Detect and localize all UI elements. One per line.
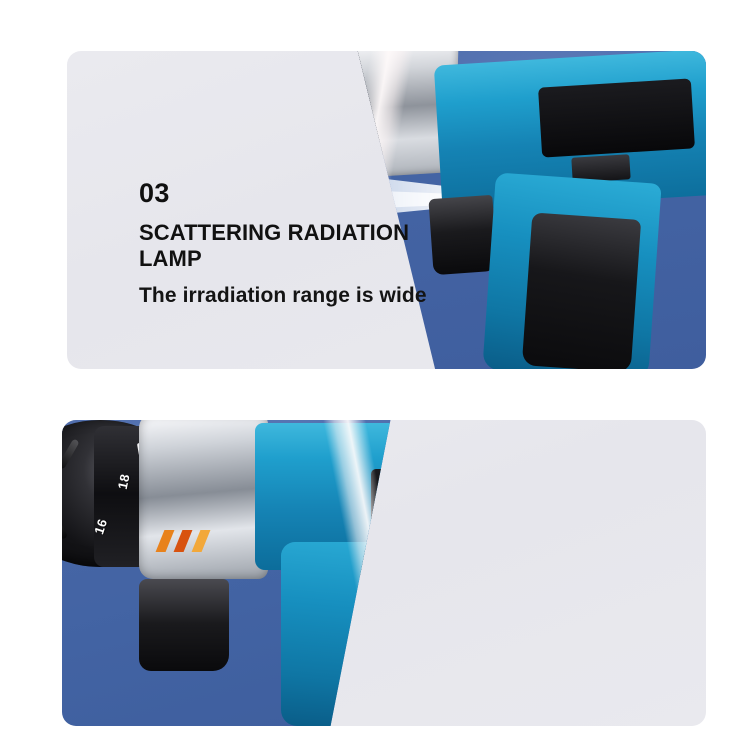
clutch-number-16-bottom: 16 (91, 517, 110, 536)
clutch-number-18: 18 (332, 76, 350, 94)
drill-illustration-bottom: 16 18 (62, 420, 706, 726)
clutch-number-16: 16 (315, 111, 333, 129)
drill-grip-pad-icon-bottom (371, 567, 513, 726)
feature-panel-04: 16 18 (62, 420, 706, 726)
warning-chevron-icon-2 (173, 530, 192, 552)
product-feature-stage: 16 18 03 SCATTERING RADIATION LAMP The i… (0, 0, 750, 750)
warning-chevron-icon-1 (155, 530, 174, 552)
drill-chuck-icon (67, 51, 389, 159)
panel-04-photo: 16 18 (62, 420, 706, 726)
panel-03-subline: The irradiation range is wide (139, 283, 439, 308)
panel-03-headline: SCATTERING RADIATION LAMP (139, 220, 439, 272)
drill-grip-icon-bottom (281, 542, 474, 726)
clutch-number-18-bottom: 18 (115, 472, 133, 490)
panel-03-text-block: 03 SCATTERING RADIATION LAMP The irradia… (139, 179, 439, 308)
drill-grip-pad-icon (522, 213, 641, 369)
panel-03-number: 03 (139, 179, 439, 207)
clutch-tick-icon (346, 53, 354, 67)
driver-bits-icon (487, 435, 667, 463)
drill-clutch-collar-icon-bottom (139, 420, 268, 579)
warning-chevron-icon-3 (191, 530, 210, 552)
drill-trigger-icon-bottom (139, 579, 229, 671)
feature-panel-03: 16 18 03 SCATTERING RADIATION LAMP The i… (67, 51, 706, 369)
drill-body-window-icon-bottom (371, 469, 551, 536)
drill-body-window-icon (538, 78, 695, 157)
